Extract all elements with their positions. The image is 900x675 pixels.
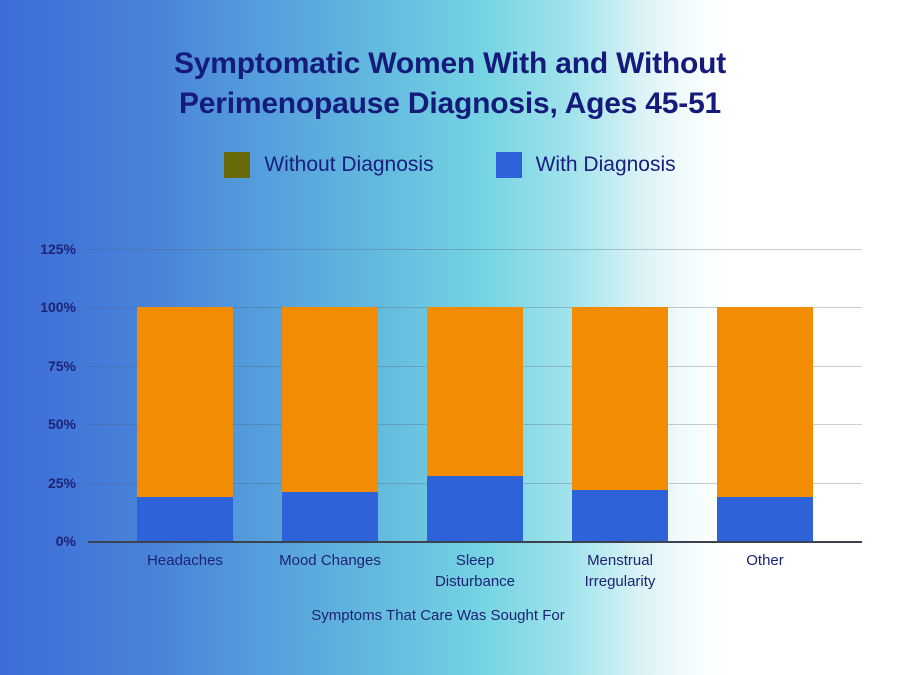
legend-item-with-diagnosis[interactable]: With Diagnosis: [496, 152, 676, 178]
y-tick-0: 0%: [16, 533, 76, 549]
chart-legend: Without Diagnosis With Diagnosis: [0, 152, 900, 178]
y-tick-100: 100%: [16, 299, 76, 315]
plot-area: [88, 249, 862, 541]
legend-swatch-without-diagnosis: [224, 152, 250, 178]
y-tick-50: 50%: [16, 416, 76, 432]
x-tick-line: Menstrual: [587, 552, 653, 569]
x-tick-line: Irregularity: [585, 573, 656, 590]
bar-segment-with-diagnosis[interactable]: [282, 492, 378, 541]
bar-segment-with-diagnosis[interactable]: [572, 490, 668, 541]
x-axis-title: Symptoms That Care Was Sought For: [88, 607, 788, 624]
x-tick-line: Disturbance: [435, 573, 515, 590]
x-tick-label-menstrual-irregularity: Menstrual Irregularity: [545, 550, 695, 592]
legend-item-without-diagnosis[interactable]: Without Diagnosis: [224, 152, 433, 178]
y-axis-ticks: 125% 100% 75% 50% 25% 0%: [12, 249, 76, 541]
x-tick-line: Sleep: [456, 552, 494, 569]
chart-title: Symptomatic Women With and Without Perim…: [0, 44, 900, 124]
x-tick-line: Mood Changes: [279, 552, 381, 569]
x-tick-line: Other: [746, 552, 784, 569]
x-tick-label-sleep-disturbance: Sleep Disturbance: [400, 550, 550, 592]
x-tick-label-mood-changes: Mood Changes: [255, 550, 405, 571]
y-tick-75: 75%: [16, 358, 76, 374]
bar-segment-without-diagnosis[interactable]: [282, 307, 378, 492]
x-axis-line: [88, 541, 862, 543]
chart-title-line-1: Symptomatic Women With and Without: [0, 44, 900, 84]
y-tick-25: 25%: [16, 475, 76, 491]
chart-figure: Symptomatic Women With and Without Perim…: [0, 0, 900, 675]
y-tick-125: 125%: [16, 241, 76, 257]
bar-segment-without-diagnosis[interactable]: [137, 307, 233, 496]
legend-swatch-with-diagnosis: [496, 152, 522, 178]
bar-segment-without-diagnosis[interactable]: [717, 307, 813, 496]
x-tick-label-headaches: Headaches: [110, 550, 260, 571]
chart-title-line-2: Perimenopause Diagnosis, Ages 45-51: [0, 84, 900, 124]
bar-segment-with-diagnosis[interactable]: [717, 497, 813, 541]
bar-segment-without-diagnosis[interactable]: [427, 307, 523, 475]
bar-segment-without-diagnosis[interactable]: [572, 307, 668, 489]
x-tick-label-other: Other: [690, 550, 840, 571]
legend-label-with-diagnosis: With Diagnosis: [536, 152, 676, 178]
bar-segment-with-diagnosis[interactable]: [427, 476, 523, 541]
x-axis-tick-labels: Headaches Mood Changes Sleep Disturbance…: [88, 550, 862, 604]
legend-label-without-diagnosis: Without Diagnosis: [264, 152, 433, 178]
gridline-125: [88, 249, 862, 250]
x-tick-line: Headaches: [147, 552, 223, 569]
bar-segment-with-diagnosis[interactable]: [137, 497, 233, 541]
